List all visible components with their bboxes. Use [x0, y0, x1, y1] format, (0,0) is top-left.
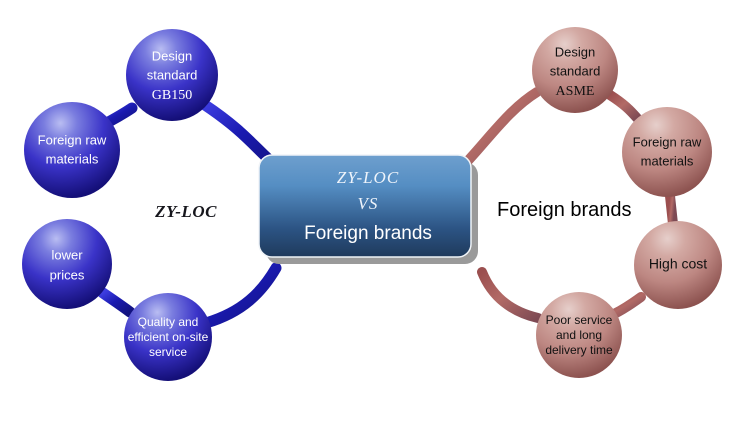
connector-lower-prices-to-quality	[103, 293, 130, 312]
node-label-line2: materials	[46, 151, 99, 166]
node-label-line2: standard	[550, 63, 601, 78]
node-foreign-raw-materials-right[interactable]: Foreign raw materials	[622, 107, 712, 197]
node-label-line2: efficient on-site	[128, 330, 209, 344]
connector-foreign-raw-right-to-high-cost	[670, 196, 673, 224]
node-high-cost[interactable]: High cost	[634, 221, 722, 309]
left-group-caption: ZY-LOC	[154, 202, 217, 221]
node-label-line1: Design	[152, 48, 192, 63]
node-poor-service-and-long-delivery-time[interactable]: Poor service and long delivery time	[536, 292, 622, 378]
node-design-standard-gb150[interactable]: Design standard GB150	[126, 29, 218, 121]
node-label-line1: Design	[555, 44, 595, 59]
node-label-line3: ASME	[556, 84, 595, 99]
node-label-line1: Foreign raw	[633, 134, 702, 149]
node-quality-and-efficient-on-site-service[interactable]: Quality and efficient on-site service	[124, 293, 212, 381]
center-box-line2: VS	[358, 194, 379, 213]
node-label-line3: GB150	[152, 88, 192, 103]
connector-center-to-asme	[463, 92, 537, 166]
node-label-line1: Foreign raw	[38, 132, 107, 147]
center-comparison-box[interactable]: ZY-LOC VS Foreign brands	[259, 155, 478, 264]
connector-poor-service-to-center	[482, 272, 538, 318]
node-design-standard-asme[interactable]: Design standard ASME	[532, 27, 618, 113]
node-label-line3: delivery time	[545, 343, 613, 357]
node-foreign-raw-materials-left[interactable]: Foreign raw materials	[24, 102, 120, 198]
node-label-line3: service	[149, 345, 187, 359]
connector-quality-to-center	[206, 268, 276, 323]
comparison-diagram: Design standard GB150 Foreign raw materi…	[0, 0, 749, 423]
center-box-line1: ZY-LOC	[337, 168, 399, 187]
center-box-line3: Foreign brands	[304, 223, 432, 244]
node-label-line1: Poor service	[546, 313, 613, 327]
connector-high-cost-to-poor-service	[614, 297, 641, 314]
node-lower-prices[interactable]: lower prices	[22, 219, 112, 309]
node-label-line2: prices	[50, 267, 85, 282]
diagram-canvas: Design standard GB150 Foreign raw materi…	[0, 0, 749, 423]
node-label-line2: materials	[641, 153, 694, 168]
node-label-line2: standard	[147, 67, 198, 82]
node-label-line2: and long	[556, 328, 602, 342]
node-label-line1: Quality and	[138, 315, 199, 329]
node-label-line1: High cost	[649, 256, 707, 272]
node-label-line1: lower	[51, 247, 83, 262]
connector-asme-to-foreign-raw-right	[610, 95, 637, 118]
right-group-caption: Foreign brands	[497, 199, 632, 221]
